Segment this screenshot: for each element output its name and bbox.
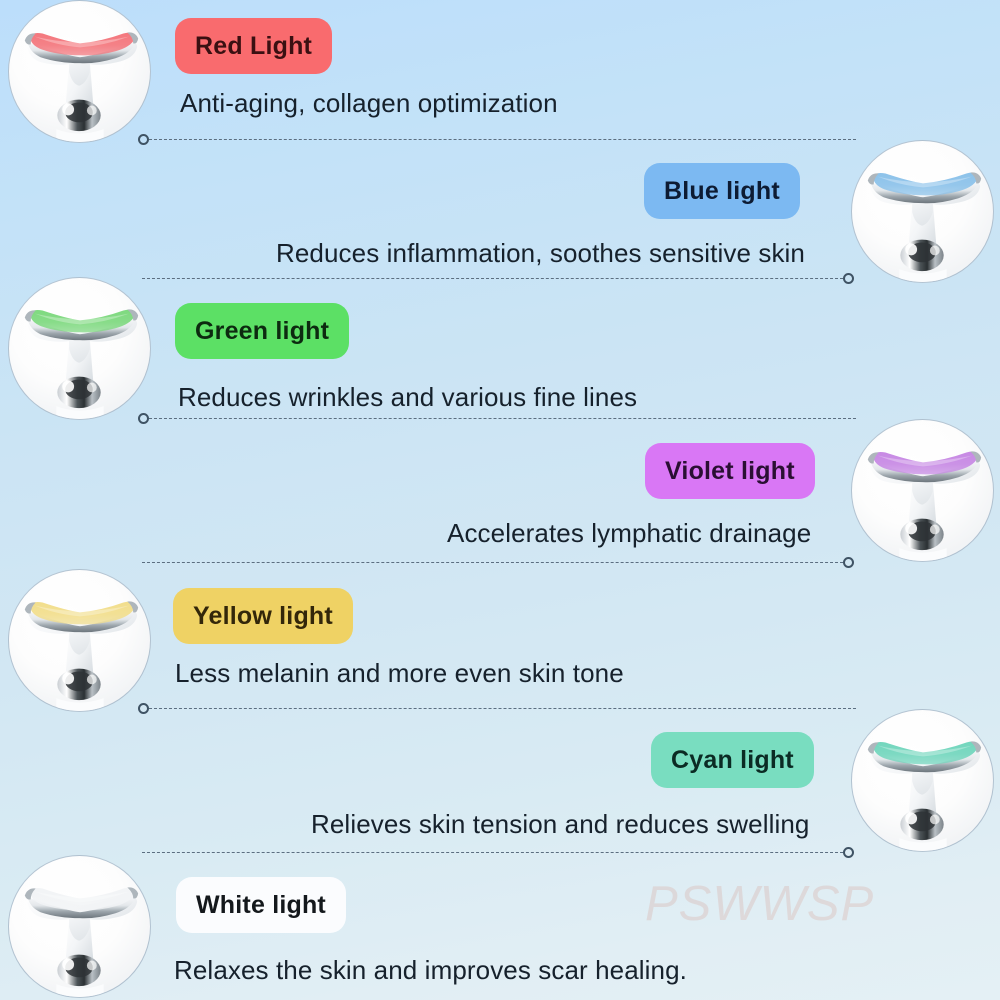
device-photo-green — [8, 277, 151, 420]
description-violet: Accelerates lymphatic drainage — [447, 518, 811, 549]
device-illustration — [9, 856, 150, 997]
device-illustration — [9, 570, 150, 711]
connector-line-yellow — [138, 702, 856, 716]
device-illustration — [852, 710, 993, 851]
device-photo-white — [8, 855, 151, 998]
watermark-text: PSWWSP — [645, 876, 874, 932]
connector-dot — [138, 134, 149, 145]
badge-yellow[interactable]: Yellow light — [173, 588, 353, 644]
connector-line-blue — [142, 272, 854, 286]
badge-blue[interactable]: Blue light — [644, 163, 800, 219]
connector-dot — [138, 413, 149, 424]
device-photo-cyan — [851, 709, 994, 852]
connector-dot — [843, 273, 854, 284]
dashed-rule — [142, 278, 843, 279]
badge-label-green: Green light — [195, 317, 329, 346]
description-green: Reduces wrinkles and various fine lines — [178, 382, 637, 413]
badge-violet[interactable]: Violet light — [645, 443, 815, 499]
badge-label-white: White light — [196, 891, 326, 920]
description-blue: Reduces inflammation, soothes sensitive … — [276, 238, 805, 269]
badge-red[interactable]: Red Light — [175, 18, 332, 74]
connector-line-violet — [142, 556, 854, 570]
description-yellow: Less melanin and more even skin tone — [175, 658, 624, 689]
device-photo-red — [8, 0, 151, 143]
description-cyan: Relieves skin tension and reduces swelli… — [311, 809, 809, 840]
connector-line-red — [138, 133, 856, 147]
device-photo-blue — [851, 140, 994, 283]
badge-label-blue: Blue light — [664, 177, 780, 206]
connector-line-cyan — [142, 846, 854, 860]
device-illustration — [9, 278, 150, 419]
device-illustration — [852, 141, 993, 282]
badge-green[interactable]: Green light — [175, 303, 349, 359]
dashed-rule — [149, 418, 856, 419]
description-red: Anti-aging, collagen optimization — [180, 88, 558, 119]
badge-label-yellow: Yellow light — [193, 602, 333, 631]
connector-dot — [138, 703, 149, 714]
badge-label-violet: Violet light — [665, 457, 795, 486]
device-photo-yellow — [8, 569, 151, 712]
badge-label-red: Red Light — [195, 32, 312, 61]
dashed-rule — [149, 708, 856, 709]
device-illustration — [9, 1, 150, 142]
description-white: Relaxes the skin and improves scar heali… — [174, 955, 687, 986]
dashed-rule — [142, 852, 843, 853]
device-illustration — [852, 420, 993, 561]
connector-dot — [843, 557, 854, 568]
badge-white[interactable]: White light — [176, 877, 346, 933]
dashed-rule — [149, 139, 856, 140]
led-therapy-infographic: PSWWSP — [0, 0, 1000, 1000]
connector-line-green — [138, 412, 856, 426]
badge-label-cyan: Cyan light — [671, 746, 794, 775]
device-photo-violet — [851, 419, 994, 562]
badge-cyan[interactable]: Cyan light — [651, 732, 814, 788]
dashed-rule — [142, 562, 843, 563]
connector-dot — [843, 847, 854, 858]
